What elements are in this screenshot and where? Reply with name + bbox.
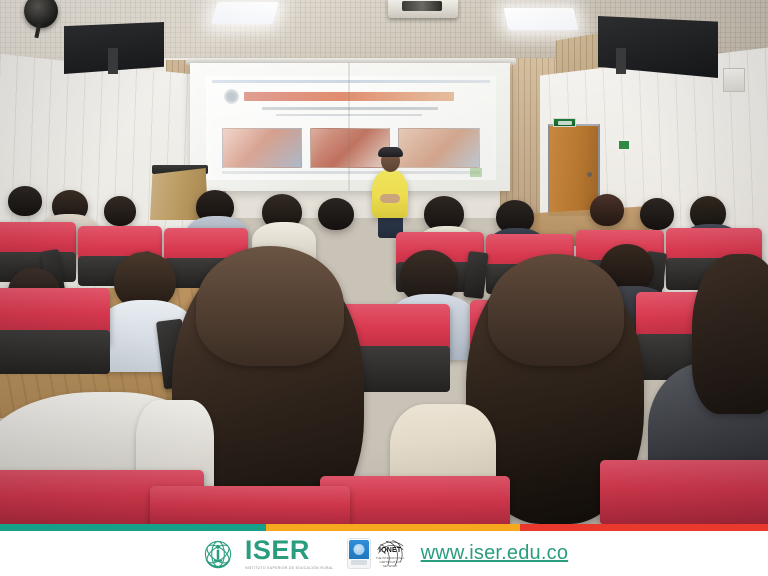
exit-sign-icon bbox=[553, 118, 576, 127]
certification-badges: IQNET THE INTERNATIONAL CERTIFICATION NE… bbox=[347, 538, 406, 569]
slide-badge-icon bbox=[470, 168, 482, 177]
iser-tagline: INSTITUTO SUPERIOR DE EDUCACIÓN RURAL bbox=[245, 566, 334, 570]
door-knob bbox=[587, 172, 592, 177]
slide-subtitle-line bbox=[262, 107, 438, 110]
auditorium-photo bbox=[0, 0, 768, 524]
presenter-cap bbox=[378, 147, 403, 157]
iqnet-word: IQNET bbox=[375, 547, 406, 554]
slide-photo-2 bbox=[310, 128, 390, 168]
seat-writing-tablet bbox=[463, 251, 488, 299]
presenter-hands bbox=[380, 194, 400, 203]
iser-word: ISER bbox=[245, 537, 310, 564]
screenshot-root: ISER INSTITUTO SUPERIOR DE EDUCACIÓN RUR… bbox=[0, 0, 768, 576]
audience-head bbox=[318, 198, 354, 230]
projected-slide bbox=[206, 76, 496, 180]
website-url-link[interactable]: www.iser.edu.co bbox=[421, 542, 569, 565]
icontec-badge-icon bbox=[347, 538, 371, 569]
iser-emblem-icon bbox=[200, 536, 236, 572]
audience-head bbox=[196, 246, 344, 366]
ceiling-light-right bbox=[503, 8, 578, 30]
stripe-segment-teal bbox=[0, 524, 266, 531]
stripe-segment-red bbox=[520, 524, 768, 531]
audience-head bbox=[590, 194, 624, 226]
slide-logo-icon bbox=[224, 89, 239, 104]
icontec-badge-cap bbox=[349, 540, 369, 559]
stripe-segment-orange bbox=[266, 524, 520, 531]
audience-head bbox=[640, 198, 674, 230]
icontec-badge-base bbox=[351, 560, 367, 565]
seat-back bbox=[0, 330, 110, 374]
slide-caption-line bbox=[222, 171, 480, 174]
slide-photo-1 bbox=[222, 128, 302, 168]
audience-head bbox=[104, 196, 136, 226]
iqnet-badge-icon: IQNET THE INTERNATIONAL CERTIFICATION NE… bbox=[375, 538, 406, 569]
iser-wordmark: ISER INSTITUTO SUPERIOR DE EDUCACIÓN RUR… bbox=[245, 537, 334, 570]
ceiling-light-left bbox=[211, 2, 279, 24]
speaker-bracket-left bbox=[108, 48, 118, 74]
auditorium-seat bbox=[150, 486, 350, 524]
wall-mounted-box bbox=[723, 68, 745, 92]
slide-photo-3 bbox=[398, 128, 480, 168]
audience-head bbox=[488, 254, 624, 366]
ceiling-projector bbox=[388, 0, 458, 18]
wall-safety-sign-icon bbox=[617, 139, 631, 151]
slide-topbar bbox=[212, 80, 490, 83]
audience-head bbox=[692, 254, 768, 414]
auditorium-seat bbox=[600, 460, 768, 524]
institutional-footer: ISER INSTITUTO SUPERIOR DE EDUCACIÓN RUR… bbox=[0, 524, 768, 576]
iqnet-subtext: THE INTERNATIONAL CERTIFICATION NETWORK bbox=[375, 557, 406, 568]
speaker-bracket-right bbox=[616, 48, 626, 74]
footer-content: ISER INSTITUTO SUPERIOR DE EDUCACIÓN RUR… bbox=[0, 531, 768, 576]
projection-screen bbox=[190, 63, 510, 191]
screen-seam bbox=[348, 63, 350, 191]
audience-head bbox=[8, 186, 42, 216]
